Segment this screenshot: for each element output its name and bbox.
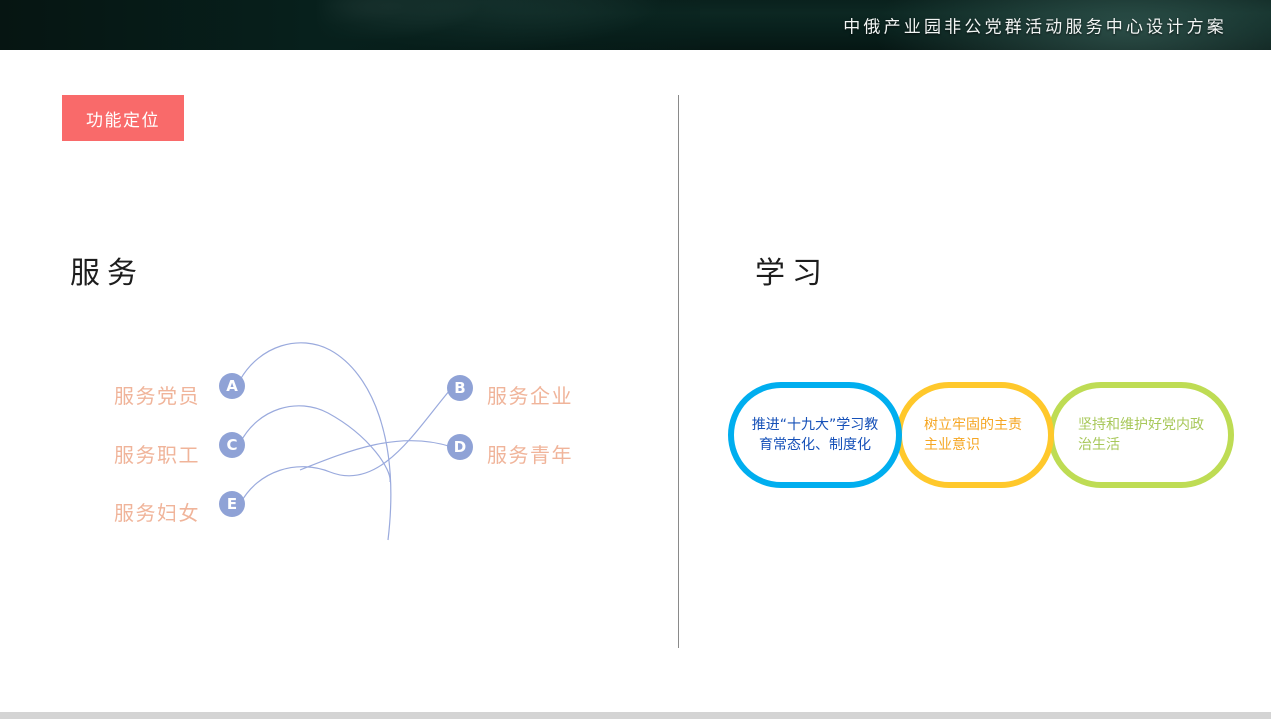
study-pill-1-text: 推进“十九大”学习教育常态化、制度化: [734, 415, 896, 456]
connector-curve-a: [240, 343, 391, 540]
node-circle-c[interactable]: C: [219, 432, 245, 458]
vertical-divider: [678, 95, 679, 648]
connector-curve-to-d: [300, 441, 452, 470]
study-pill-3-text: 坚持和维护好党内政治生活: [1054, 415, 1228, 456]
section-badge-function-positioning: 功能定位: [62, 95, 184, 141]
node-label-d: 服务青年: [487, 439, 573, 468]
node-label-c: 服务职工: [70, 439, 200, 468]
node-circle-d[interactable]: D: [447, 434, 473, 460]
connector-curve-c: [240, 406, 390, 482]
study-pill-2-text: 树立牢固的主责主业意识: [902, 415, 1048, 456]
right-section-heading: 学习: [755, 248, 829, 292]
node-label-e: 服务妇女: [70, 497, 200, 526]
node-circle-b[interactable]: B: [447, 375, 473, 401]
node-circle-e[interactable]: E: [219, 491, 245, 517]
section-badge-label: 功能定位: [86, 106, 160, 131]
connector-curve-e-to-b: [240, 390, 450, 504]
page-title: 中俄产业园非公党群活动服务中心设计方案: [843, 13, 1227, 38]
node-label-b: 服务企业: [487, 380, 573, 409]
study-pill-group: 推进“十九大”学习教育常态化、制度化 树立牢固的主责主业意识 坚持和维护好党内政…: [728, 382, 1248, 492]
header-background-vignette: [0, 0, 700, 50]
left-section-heading: 服务: [70, 248, 144, 292]
bottom-strip: [0, 712, 1271, 719]
study-pill-2[interactable]: 树立牢固的主责主业意识: [896, 382, 1054, 488]
page-header: 中俄产业园非公党群活动服务中心设计方案: [0, 0, 1271, 50]
node-circle-a[interactable]: A: [219, 373, 245, 399]
study-pill-3[interactable]: 坚持和维护好党内政治生活: [1048, 382, 1234, 488]
node-label-a: 服务党员: [70, 380, 200, 409]
study-pill-1[interactable]: 推进“十九大”学习教育常态化、制度化: [728, 382, 902, 488]
